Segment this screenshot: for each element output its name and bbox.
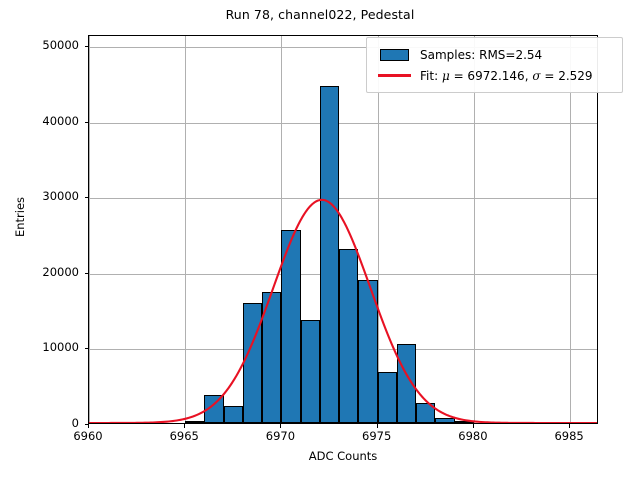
y-tick [85,273,89,274]
x-tick-label: 6965 [149,429,219,443]
x-tick [280,424,281,428]
x-tick [88,424,89,428]
legend-item-samples: Samples: RMS=2.54 [374,44,614,65]
y-tick [85,197,89,198]
x-tick-label: 6970 [245,429,315,443]
legend-patch-icon [374,49,414,61]
y-axis-label: Entries [13,117,27,317]
y-tick [85,46,89,47]
legend-label-fit: Fit: μ = 6972.146, σ = 2.529 [414,69,593,83]
y-tick-label: 50000 [19,38,79,52]
x-tick-label: 6975 [342,429,412,443]
x-tick-label: 6960 [53,429,123,443]
chart-legend: Samples: RMS=2.54 Fit: μ = 6972.146, σ =… [366,37,623,93]
sigma-symbol: σ [532,69,540,83]
x-tick [184,424,185,428]
gaussian-fit-curve [89,36,597,423]
legend-fit-mu-value: = 6972.146, [450,69,533,83]
legend-line-icon [374,74,414,76]
y-tick-label: 30000 [19,189,79,203]
mu-symbol: μ [442,69,450,83]
plot-area [88,35,598,424]
y-tick [85,424,89,425]
x-tick-label: 6980 [438,429,508,443]
legend-fit-sigma-value: = 2.529 [541,69,593,83]
x-tick-label: 6985 [534,429,604,443]
y-tick [85,348,89,349]
chart-figure: Run 78, channel022, Pedestal 69606965697… [0,0,640,480]
x-tick [377,424,378,428]
legend-label-samples: Samples: RMS=2.54 [414,48,542,62]
x-tick [473,424,474,428]
x-axis-label: ADC Counts [88,449,598,463]
y-tick [85,122,89,123]
legend-item-fit: Fit: μ = 6972.146, σ = 2.529 [374,65,614,86]
legend-fit-prefix: Fit: [420,69,442,83]
y-tick-label: 10000 [19,340,79,354]
x-tick [569,424,570,428]
y-tick-label: 0 [19,416,79,430]
y-tick-label: 40000 [19,114,79,128]
y-tick-label: 20000 [19,265,79,279]
page-title: Run 78, channel022, Pedestal [0,7,640,22]
